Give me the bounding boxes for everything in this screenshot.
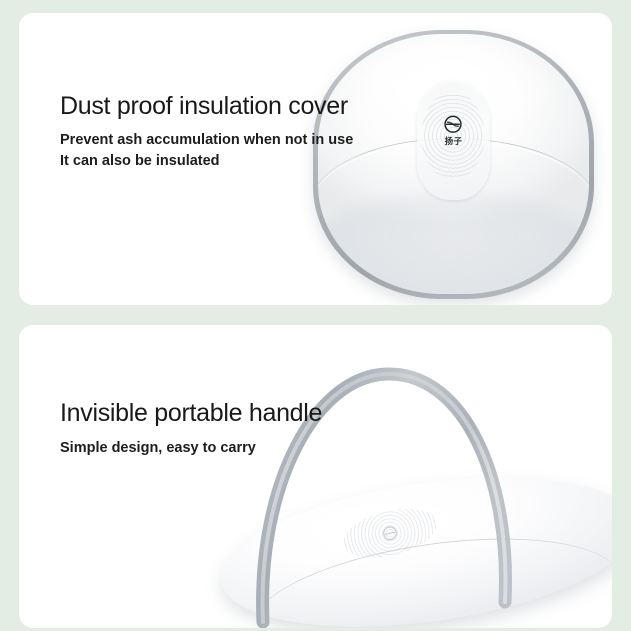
product-image-portable-handle <box>19 325 612 628</box>
lid-badge-plate: 扬子 <box>417 81 490 201</box>
subline-1: Simple design, easy to carry <box>60 438 322 459</box>
heading-portable-handle: Invisible portable handle <box>60 400 322 428</box>
product-infographic-page: 扬子 Dust proof insulation cover Prevent a… <box>0 0 631 631</box>
wave-circle-logo-icon <box>444 115 463 134</box>
section-card-portable-handle: Invisible portable handle Simple design,… <box>19 325 612 628</box>
brand-logo: 扬子 <box>444 115 463 146</box>
subline-2: It can also be insulated <box>60 151 353 172</box>
subtext-dust-cover: Prevent ash accumulation when not in use… <box>60 130 353 172</box>
lid-bottom-shading <box>318 195 589 294</box>
lid-white-body: 扬子 <box>318 34 589 294</box>
section-card-dust-cover: 扬子 Dust proof insulation cover Prevent a… <box>19 13 612 305</box>
heading-dust-cover: Dust proof insulation cover <box>60 93 353 121</box>
subline-1: Prevent ash accumulation when not in use <box>60 130 353 151</box>
subtext-portable-handle: Simple design, easy to carry <box>60 438 322 459</box>
brand-logo-text: 扬子 <box>444 137 463 146</box>
text-block-portable-handle: Invisible portable handle Simple design,… <box>60 400 322 459</box>
text-block-dust-cover: Dust proof insulation cover Prevent ash … <box>60 93 353 172</box>
